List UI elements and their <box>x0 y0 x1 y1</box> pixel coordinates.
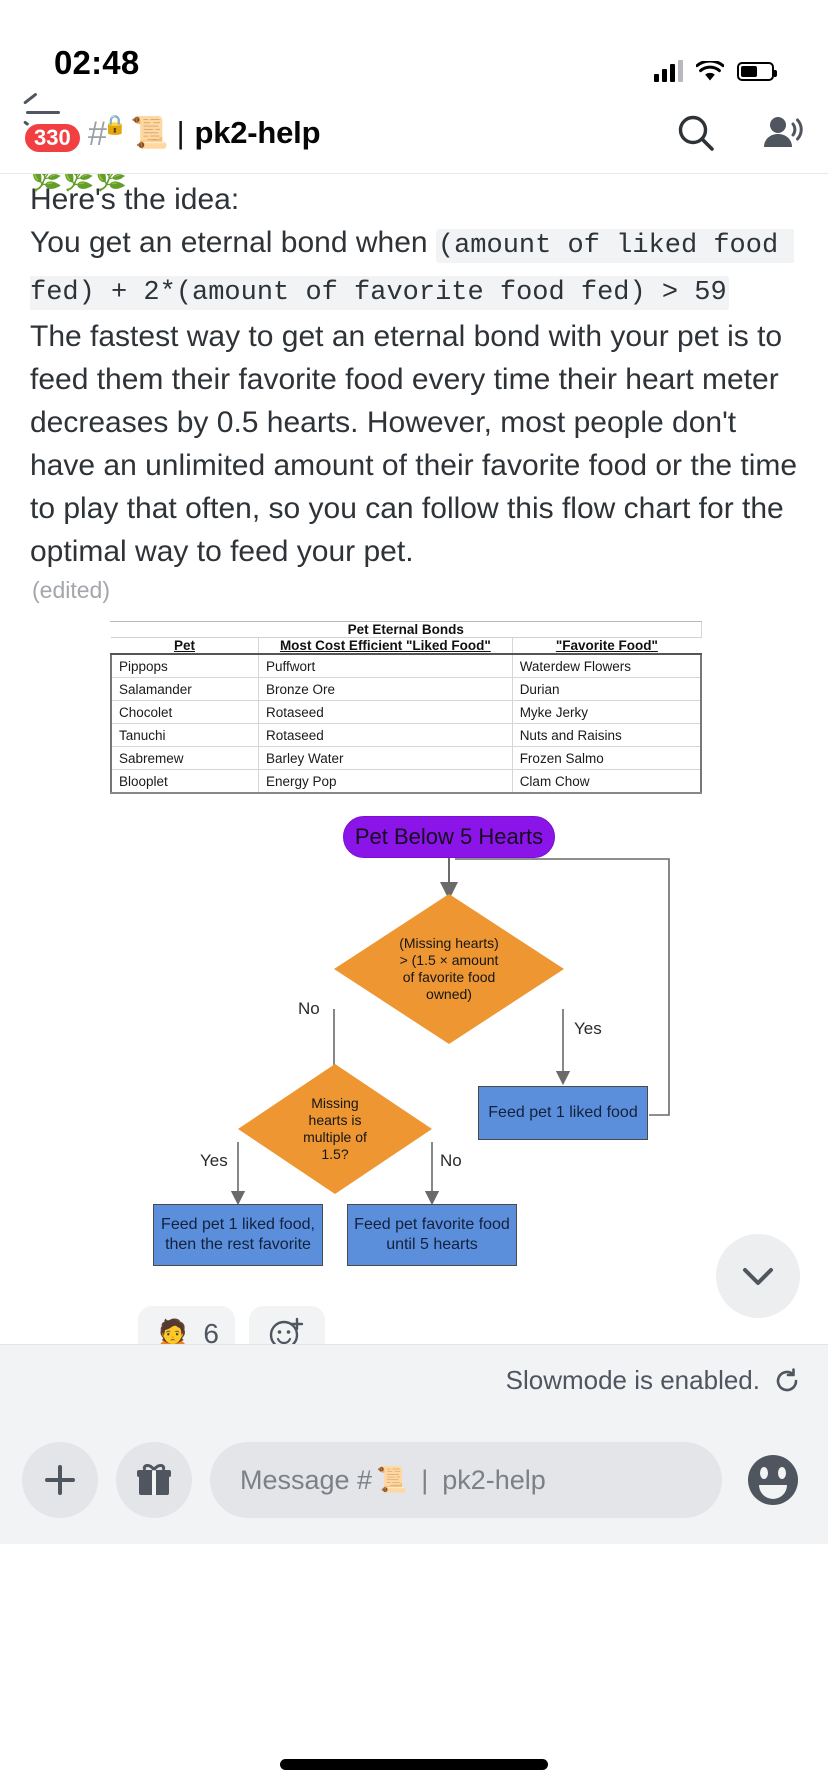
gift-icon <box>133 1459 175 1501</box>
pet-bonds-table: Pet Eternal Bonds Pet Most Cost Efficien… <box>110 622 702 794</box>
edge-label-no-1: No <box>298 999 320 1019</box>
emoji-icon <box>742 1449 804 1511</box>
cell-favorite: Frozen Salmo <box>512 747 701 770</box>
message-reactions: 🙍 6 <box>0 1284 828 1344</box>
gift-button[interactable] <box>116 1442 192 1518</box>
cell-favorite: Clam Chow <box>512 770 701 794</box>
edge-label-no-2: No <box>440 1151 462 1171</box>
plus-icon <box>38 1458 82 1502</box>
reaction-emoji: 🙍 <box>154 1319 191 1344</box>
cell-favorite: Myke Jerky <box>512 701 701 724</box>
table-row: Pippops Puffwort Waterdew Flowers <box>111 654 701 678</box>
cell-pet: Blooplet <box>111 770 259 794</box>
cell-pet: Pippops <box>111 654 259 678</box>
edge-label-yes-1: Yes <box>574 1019 602 1039</box>
column-header-favorite-food: "Favorite Food" <box>512 638 701 655</box>
cell-liked: Bronze Ore <box>259 678 513 701</box>
header-actions <box>674 111 804 155</box>
cellular-signal-icon <box>654 60 683 82</box>
channel-header: 330 # 🔒 📜 | pk2-help <box>0 92 828 174</box>
slowmode-timer-icon <box>772 1366 802 1396</box>
message-line-2: You get an eternal bond when (amount of … <box>30 221 802 315</box>
channel-emoji: 📜 <box>130 117 169 148</box>
reaction-count: 6 <box>203 1318 219 1344</box>
column-header-liked-food: Most Cost Efficient "Liked Food" <box>259 638 513 655</box>
channel-locked-icon: # 🔒 <box>88 113 126 153</box>
cell-pet: Salamander <box>111 678 259 701</box>
cell-liked: Rotaseed <box>259 701 513 724</box>
unread-badge: 330 <box>22 121 83 155</box>
table-row: Tanuchi Rotaseed Nuts and Raisins <box>111 724 701 747</box>
cell-pet: Chocolet <box>111 701 259 724</box>
message-line-2-prefix: You get an eternal bond when <box>30 226 436 259</box>
add-reaction-icon[interactable] <box>249 1306 325 1344</box>
reaction-person-gesturing[interactable]: 🙍 6 <box>138 1306 235 1344</box>
wifi-icon <box>696 61 724 82</box>
flow-node-action-favorite-until-5: Feed pet favorite food until 5 hearts <box>347 1204 517 1266</box>
table-row: Chocolet Rotaseed Myke Jerky <box>111 701 701 724</box>
feeding-flow-chart-attachment[interactable]: Pet Below 5 Hearts (Missing hearts) > (1… <box>0 804 828 1284</box>
slowmode-text: Slowmode is enabled. <box>506 1365 760 1396</box>
edited-label: (edited) <box>30 573 802 607</box>
page-title: pk2-help <box>194 115 320 151</box>
flow-node-start: Pet Below 5 Hearts <box>343 816 555 858</box>
cell-liked: Rotaseed <box>259 724 513 747</box>
jump-to-present-button[interactable] <box>716 1234 800 1318</box>
message-placeholder-separator: | <box>421 1465 428 1496</box>
message-paragraph: The fastest way to get an eternal bond w… <box>30 315 802 573</box>
table-row: Sabremew Barley Water Frozen Salmo <box>111 747 701 770</box>
status-time: 02:48 <box>54 44 139 82</box>
cell-favorite: Durian <box>512 678 701 701</box>
cell-liked: Puffwort <box>259 654 513 678</box>
message-composer: Message # 📜 | pk2-help <box>0 1416 828 1544</box>
flow-node-start-label: Pet Below 5 Hearts <box>355 824 543 850</box>
message-placeholder-prefix: Message # <box>240 1465 372 1496</box>
cell-liked: Energy Pop <box>259 770 513 794</box>
back-button[interactable]: 330 <box>14 103 88 163</box>
table-row: Salamander Bronze Ore Durian <box>111 678 701 701</box>
cell-favorite: Waterdew Flowers <box>512 654 701 678</box>
chevron-down-icon <box>735 1253 781 1299</box>
add-attachment-button[interactable] <box>22 1442 98 1518</box>
channel-separator: | <box>177 115 185 151</box>
table-title: Pet Eternal Bonds <box>111 622 701 638</box>
column-header-pet: Pet <box>111 638 259 655</box>
message-placeholder-channel: pk2-help <box>442 1465 546 1496</box>
message-line-1: Here's the idea: <box>30 178 802 221</box>
lock-icon: 🔒 <box>103 113 127 137</box>
message-list[interactable]: 🌿🌿🌿 Here's the idea: You get an eternal … <box>0 174 828 1344</box>
members-icon[interactable] <box>760 111 804 155</box>
flow-node-action-feed-liked: Feed pet 1 liked food <box>478 1086 648 1140</box>
partial-previous-message-emoji: 🌿🌿🌿 <box>30 174 127 193</box>
slowmode-bar: Slowmode is enabled. <box>0 1344 828 1416</box>
flow-node-action-liked-then-favorite: Feed pet 1 liked food, then the rest fav… <box>153 1204 323 1266</box>
table-row: Blooplet Energy Pop Clam Chow <box>111 770 701 794</box>
cell-pet: Sabremew <box>111 747 259 770</box>
home-indicator <box>280 1759 548 1770</box>
cell-favorite: Nuts and Raisins <box>512 724 701 747</box>
search-icon[interactable] <box>674 111 718 155</box>
message-placeholder-emoji: 📜 <box>376 1466 407 1495</box>
status-indicators <box>654 60 774 82</box>
pet-bonds-table-attachment[interactable]: Pet Eternal Bonds Pet Most Cost Efficien… <box>110 621 702 794</box>
emoji-picker-button[interactable] <box>740 1447 806 1513</box>
message-content: Here's the idea: You get an eternal bond… <box>0 174 828 607</box>
back-arrow-icon <box>26 111 60 114</box>
message-input[interactable]: Message # 📜 | pk2-help <box>210 1442 722 1518</box>
cell-liked: Barley Water <box>259 747 513 770</box>
status-bar: 02:48 <box>0 0 828 92</box>
edge-label-yes-2: Yes <box>200 1151 228 1171</box>
battery-icon <box>737 62 774 81</box>
cell-pet: Tanuchi <box>111 724 259 747</box>
